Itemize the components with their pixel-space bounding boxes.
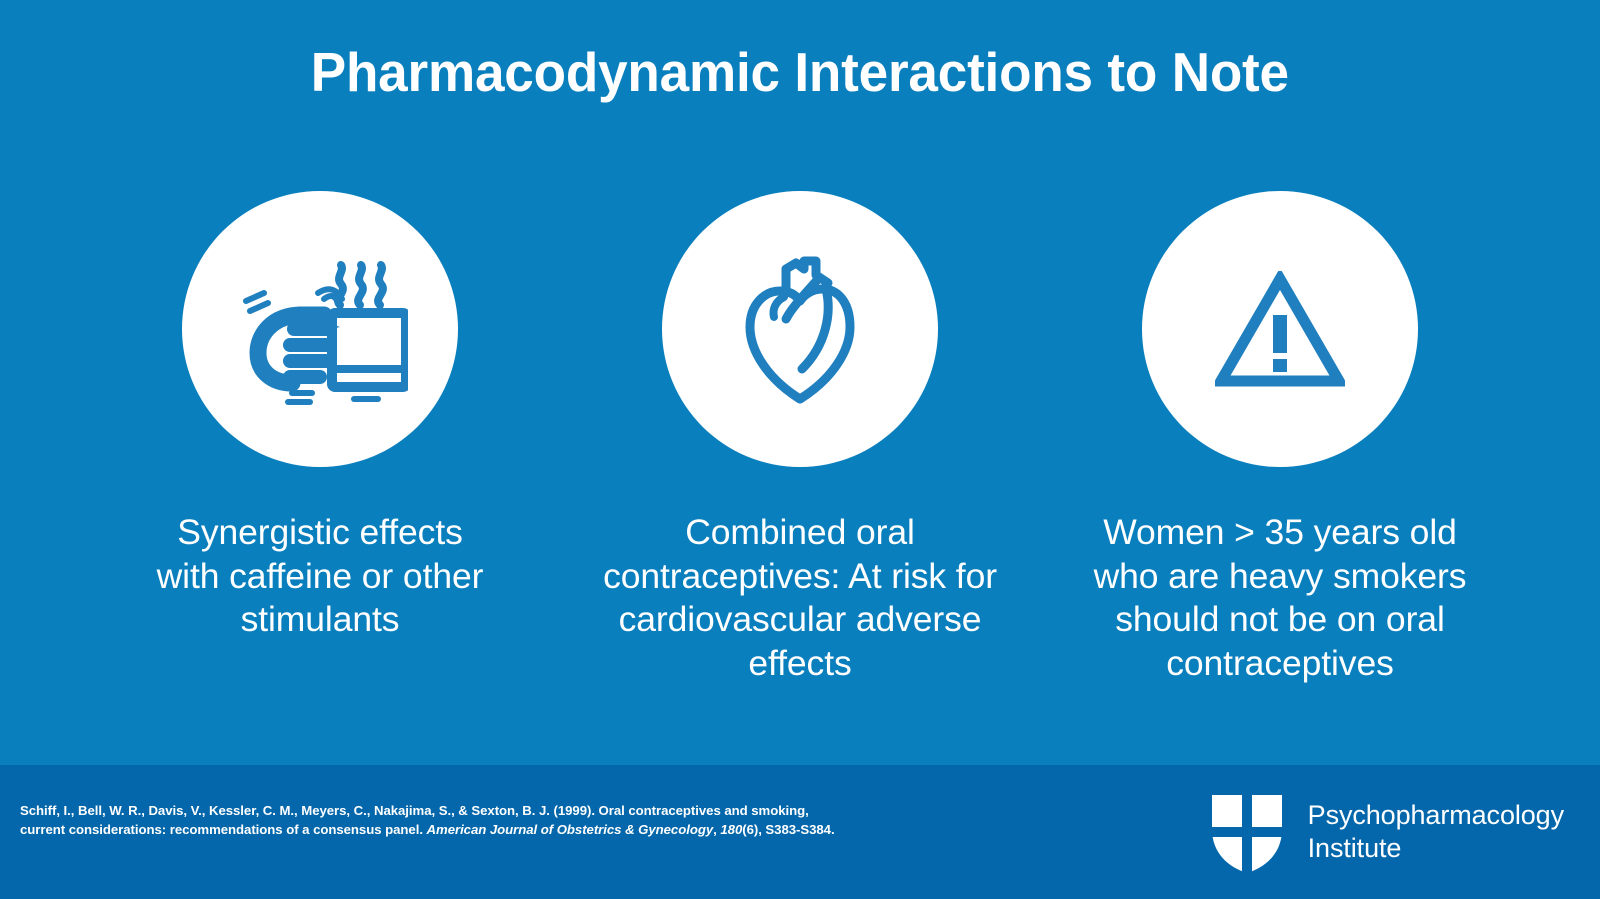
citation-journal: American Journal of Obstetrics & Gynecol… [427,822,714,837]
column-smoking-warning: Women > 35 years old who are heavy smoke… [1040,191,1520,685]
column-caption-smoking-warning: Women > 35 years old who are heavy smoke… [1070,511,1490,685]
slide-root: Pharmacodynamic Interactions to Note [0,0,1600,899]
shield-logo-icon [1206,789,1288,875]
footer-bar: Schiff, I., Bell, W. R., Davis, V., Kess… [0,765,1600,899]
brand-line-1: Psychopharmacology [1308,799,1564,832]
column-cardiovascular: Combined oral contraceptives: At risk fo… [560,191,1040,685]
page-title: Pharmacodynamic Interactions to Note [311,44,1289,102]
citation-text: Schiff, I., Bell, W. R., Davis, V., Kess… [20,801,920,839]
warning-triangle-icon [1215,271,1345,387]
shaking-hand-coffee-mug-icon [232,253,408,405]
citation-pages: (6), S383-S384. [742,822,834,837]
icon-circle-smoking-warning [1142,191,1418,467]
brand-line-2: Institute [1308,832,1564,865]
columns-container: Synergistic effects with caffeine or oth… [0,191,1600,711]
citation-volume: 180 [720,822,742,837]
citation-line-2-lead: current considerations: recommendations … [20,822,427,837]
column-stimulants: Synergistic effects with caffeine or oth… [80,191,560,642]
icon-circle-cardiovascular [662,191,938,467]
column-caption-stimulants: Synergistic effects with caffeine or oth… [150,511,490,642]
title-area: Pharmacodynamic Interactions to Note [0,44,1600,102]
citation-line-1: Schiff, I., Bell, W. R., Davis, V., Kess… [20,803,809,818]
brand-logo-text: Psychopharmacology Institute [1308,799,1564,865]
column-caption-cardiovascular: Combined oral contraceptives: At risk fo… [603,511,998,685]
icon-circle-stimulants [182,191,458,467]
brand-logo: Psychopharmacology Institute [1206,789,1564,875]
anatomical-heart-icon [740,253,860,405]
